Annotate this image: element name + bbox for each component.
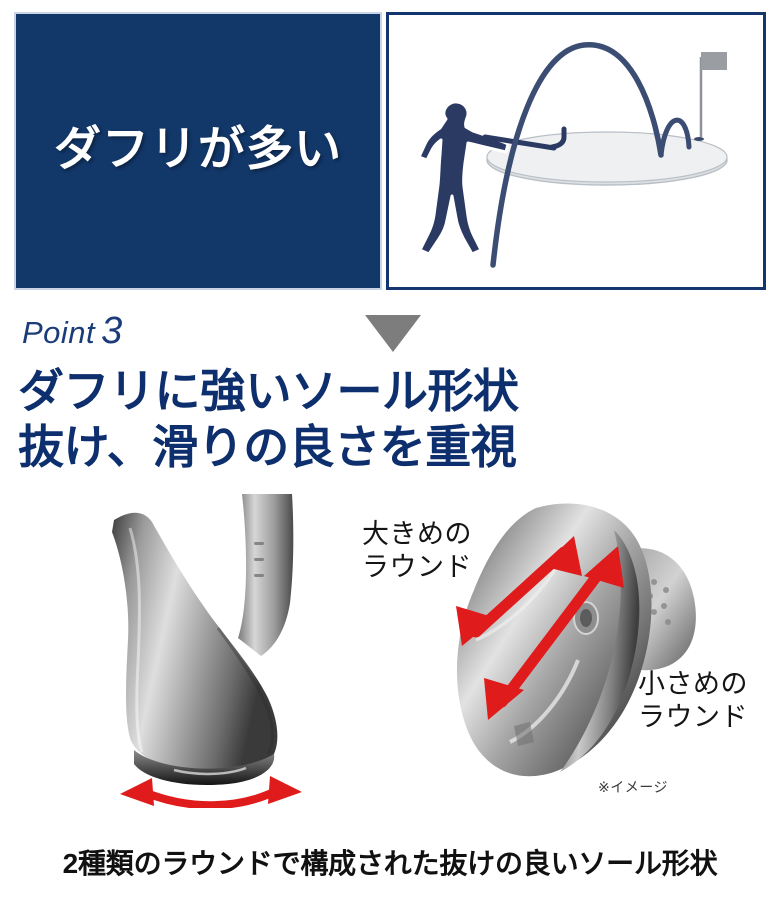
flag-icon — [701, 52, 727, 70]
callout-large-round-line-1: 大きめの — [362, 518, 472, 551]
bottom-caption: 2種類のラウンドで構成された抜けの良いソール形状 — [0, 842, 780, 882]
top-comparison-row: ダフリが多い — [0, 0, 780, 296]
headline-line-1: ダフリに強いソール形状 — [18, 363, 758, 419]
symptom-banner-label: ダフリが多い — [54, 123, 342, 175]
golf-swing-illustration-panel — [386, 12, 766, 290]
callout-small-round-line-1: 小さめの — [638, 668, 748, 701]
hole-marker — [694, 137, 704, 141]
symptom-banner: ダフリが多い — [14, 12, 382, 290]
callout-small-round: 小さめの ラウンド — [638, 668, 748, 734]
headline-line-2: 抜け、滑りの良さを重視 — [18, 419, 758, 475]
callout-large-round: 大きめの ラウンド — [362, 518, 472, 584]
callout-small-round-line-2: ラウンド — [638, 701, 748, 734]
point-number: 3 — [101, 310, 123, 352]
down-triangle-arrow — [365, 315, 421, 352]
image-disclaimer-note: ※イメージ — [598, 777, 668, 797]
green-ellipse-shade — [487, 132, 727, 182]
point-word: Point — [22, 315, 95, 350]
sole-weight-port-inner — [580, 609, 592, 627]
headline: ダフリに強いソール形状 抜け、滑りの良さを重視 — [18, 363, 758, 475]
callout-large-round-line-2: ラウンド — [362, 551, 472, 584]
club-hosel — [238, 494, 293, 656]
club-head-front-view — [78, 488, 338, 808]
golf-swing-trajectory-illustration — [389, 15, 763, 287]
point-label: Point3 — [22, 312, 123, 350]
